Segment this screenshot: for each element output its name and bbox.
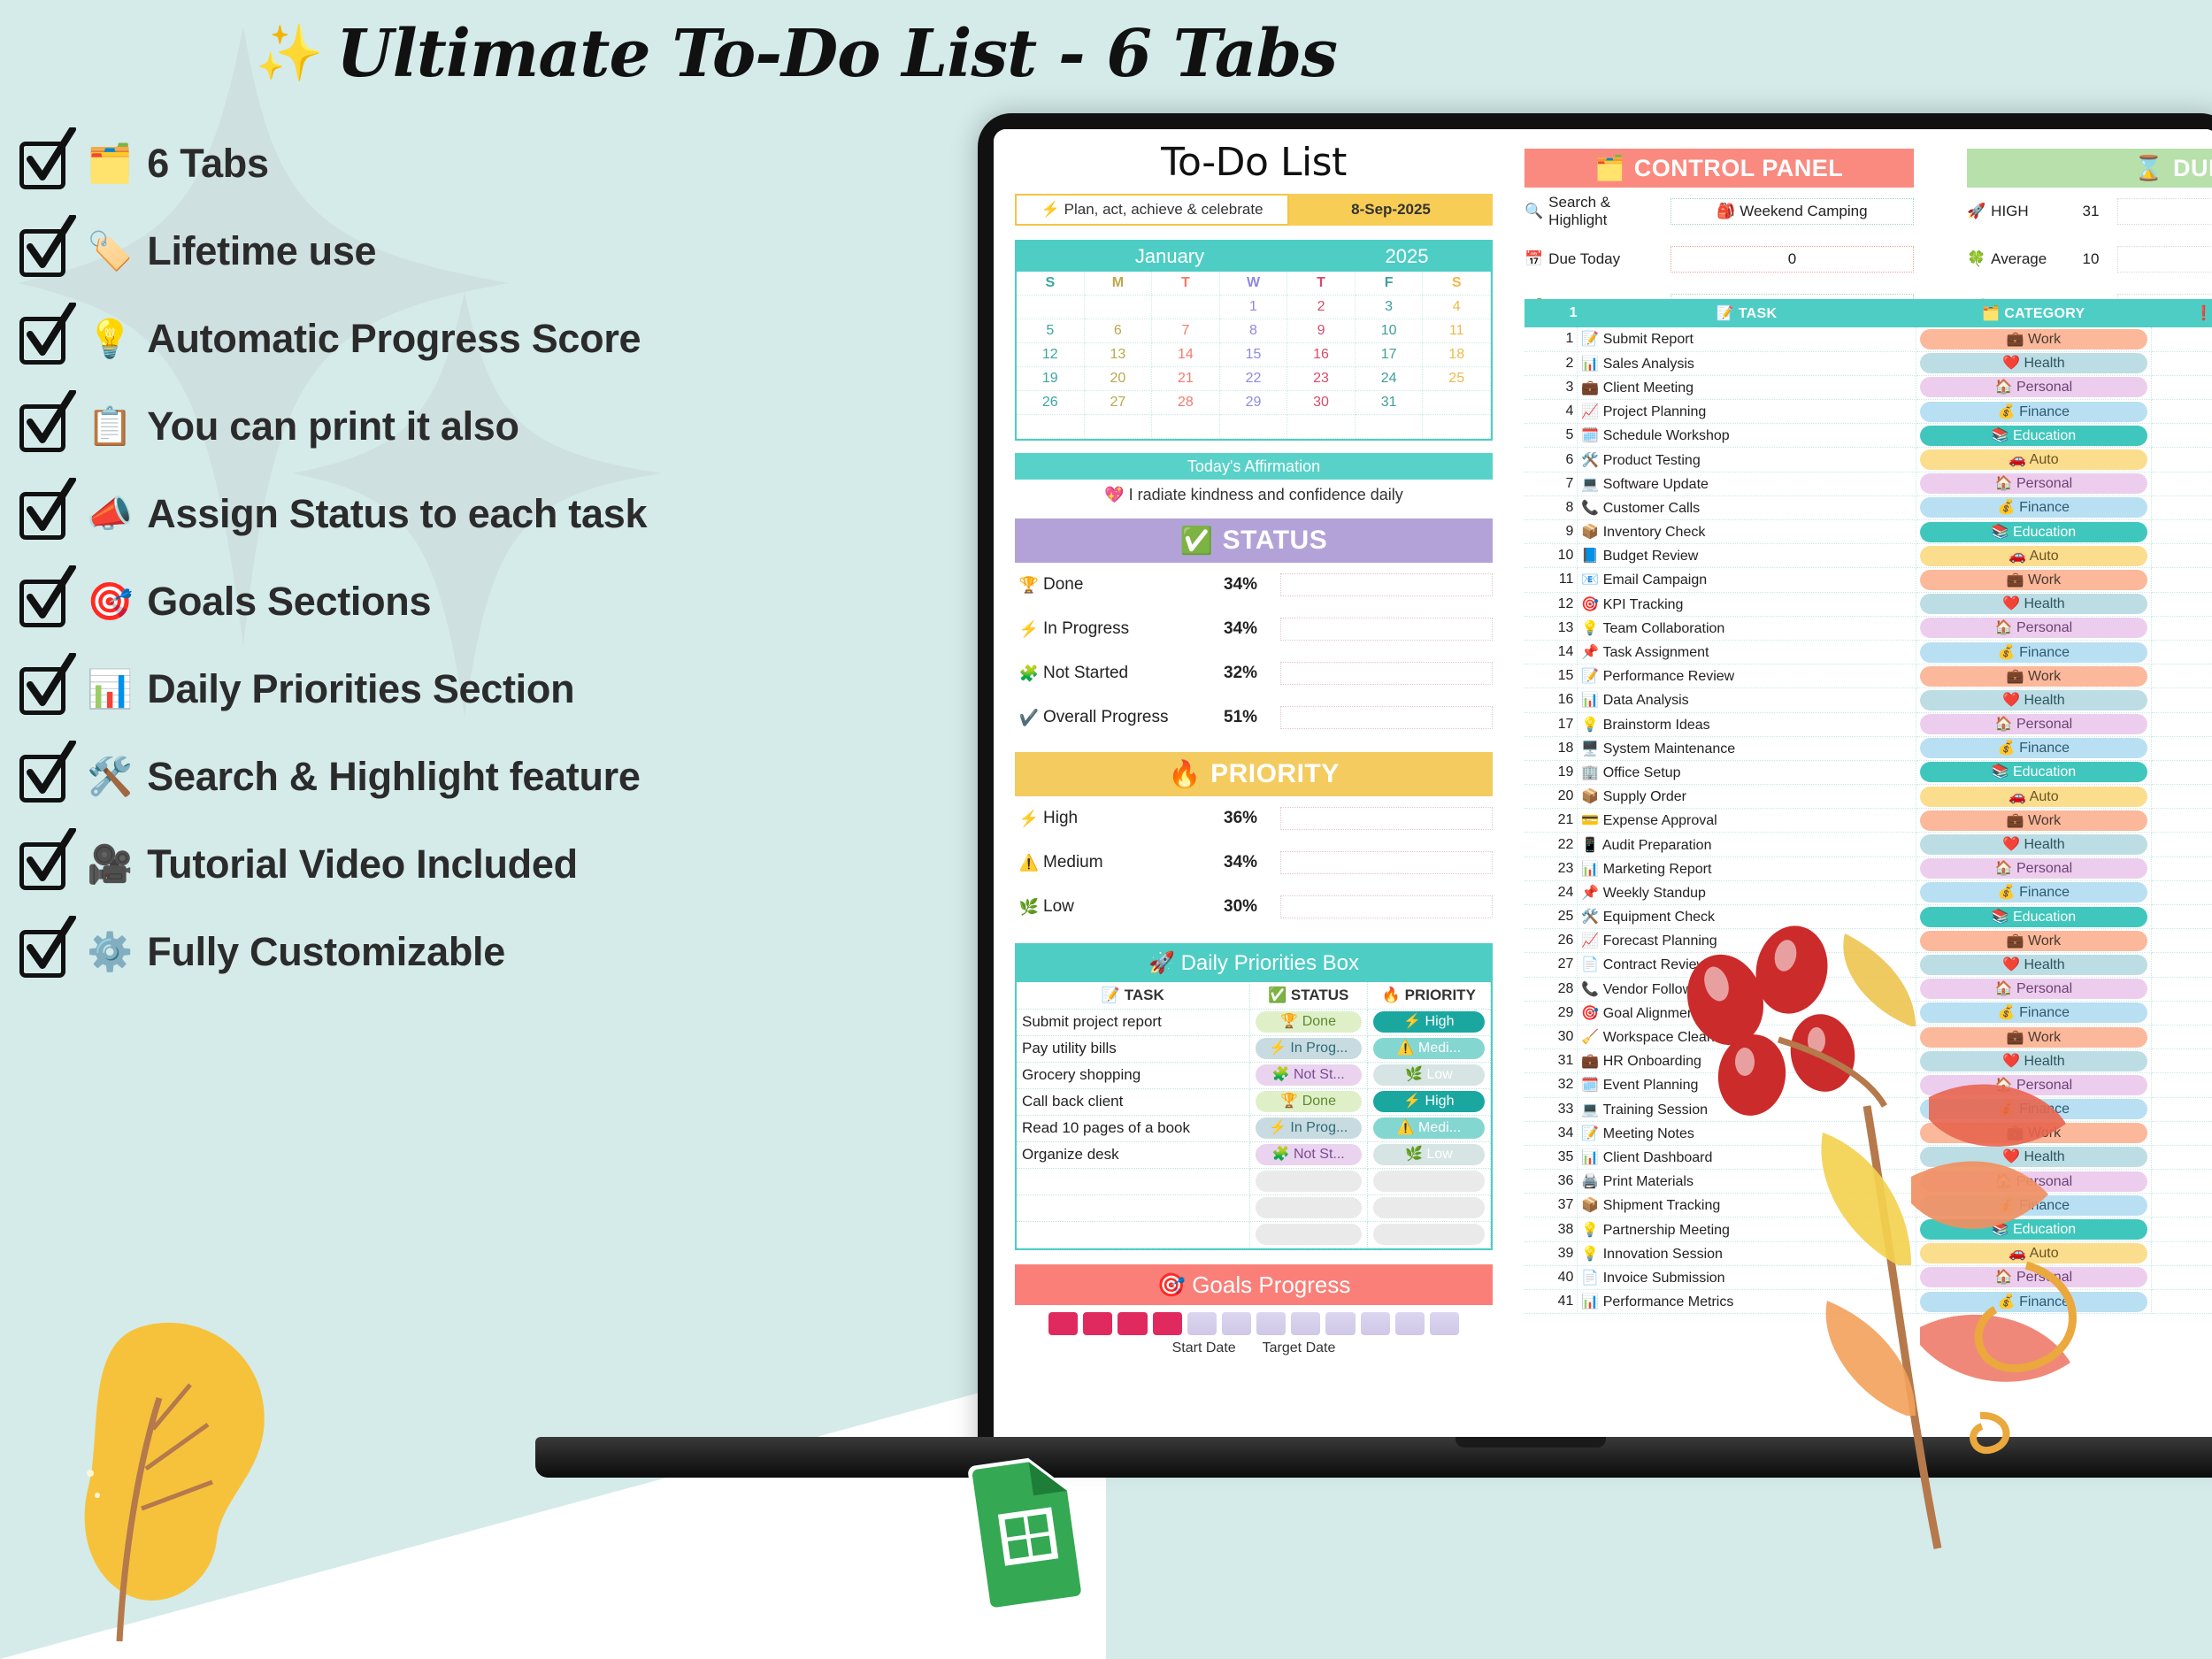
task-name-text: Brainstorm Ideas — [1603, 718, 1710, 733]
task-emoji-icon: 📦 — [1581, 789, 1599, 804]
status-row-label: Done — [1043, 575, 1224, 595]
important-cell: Yes — [2151, 616, 2212, 640]
category-badge: 🚗 Auto — [1920, 546, 2147, 566]
duration-label-text: Average — [1991, 250, 2047, 268]
task-name-cell: 🏢 Office Setup — [1578, 760, 1916, 784]
calendar-weekday: T — [1287, 272, 1356, 296]
task-name-text: Supply Order — [1603, 789, 1686, 804]
daily-status-cell: 🧩 Not St... — [1249, 1062, 1367, 1088]
status-row-bar-track — [1280, 706, 1493, 729]
task-emoji-icon: 🎯 — [1581, 597, 1599, 612]
task-name-cell: 🎯 KPI Tracking — [1578, 592, 1916, 616]
feature-item: 🏷️Lifetime use — [18, 207, 920, 295]
category-badge: 💰 Finance — [1920, 402, 2147, 422]
daily-priority-cell: ⚡ High — [1367, 1088, 1490, 1115]
important-cell: No — [2151, 640, 2212, 664]
calendar-day[interactable]: 28 — [1152, 391, 1220, 415]
table-row[interactable]: 22📱 Audit Preparation❤️ HealthYes22-Sep-… — [1525, 833, 2212, 856]
calendar-day[interactable] — [1220, 415, 1288, 439]
calendar-day[interactable]: 22 — [1220, 367, 1288, 391]
calendar-day[interactable] — [1085, 296, 1153, 319]
calendar-day[interactable]: 8 — [1220, 319, 1288, 343]
daily-status-cell: 🧩 Not St... — [1249, 1141, 1367, 1168]
table-row[interactable]: 11📧 Email Campaign💼 WorkNo11-Sep-2025Sep… — [1525, 568, 2212, 592]
category-cell: 💰 Finance — [1916, 640, 2151, 664]
sheet-title: To-Do List — [1015, 140, 1493, 185]
important-cell: No — [2151, 568, 2212, 592]
calendar-day[interactable]: 6 — [1085, 319, 1153, 343]
category-cell: ❤️ Health — [1916, 592, 2151, 616]
row-index: 38 — [1525, 1217, 1578, 1241]
important-cell: N/A — [2151, 664, 2212, 688]
daily-priorities-row[interactable]: Call back client🏆 Done⚡ High — [1017, 1088, 1491, 1115]
table-row[interactable]: 2📊 Sales Analysis❤️ HealthNo2-Sep-2025Se… — [1525, 351, 2212, 375]
calendar-day[interactable]: 9 — [1287, 319, 1356, 343]
control-panel-label-text: Search & Highlight — [1548, 194, 1671, 229]
row-index: 11 — [1525, 568, 1578, 592]
daily-task-cell: Pay utility bills — [1017, 1035, 1249, 1062]
category-cell: 🏠 Personal — [1916, 712, 2151, 736]
goal-progress-cell[interactable] — [1256, 1312, 1286, 1335]
calendar-weekday: F — [1356, 272, 1424, 296]
feature-item: 📣Assign Status to each task — [18, 470, 920, 557]
task-name-cell: 💡 Brainstorm Ideas — [1578, 712, 1916, 736]
row-index: 22 — [1525, 833, 1578, 856]
feature-label: 6 Tabs — [147, 141, 268, 187]
task-name-cell: 📧 Email Campaign — [1578, 568, 1916, 592]
daily-status-cell — [1249, 1194, 1367, 1221]
calendar-weekday: T — [1152, 272, 1220, 296]
calendar-weekday: M — [1085, 272, 1153, 296]
task-name-cell: 📞 Customer Calls — [1578, 495, 1916, 519]
tagline-cell: ⚡ Plan, act, achieve & celebrate — [1015, 194, 1289, 226]
daily-priorities-row[interactable]: Pay utility bills⚡ In Prog...⚠️ Medi... — [1017, 1035, 1491, 1062]
calendar-widget[interactable]: January 2025 SMTWTFS 1234567891011121314… — [1015, 240, 1493, 441]
row-index: 26 — [1525, 929, 1578, 953]
calendar-day[interactable]: 25 — [1423, 367, 1491, 391]
row-index: 21 — [1525, 809, 1578, 833]
status-row-icon: ⚡ — [1015, 620, 1043, 639]
table-row[interactable]: 23📊 Marketing Report🏠 PersonalNo23-Sep-2… — [1525, 856, 2212, 880]
calendar-day[interactable] — [1017, 296, 1085, 319]
calendar-weekday: S — [1423, 272, 1491, 296]
goal-progress-cell[interactable] — [1291, 1312, 1320, 1335]
label-tag-icon: 🏷️ — [87, 233, 133, 270]
control-panel-label: 🔍Search & Highlight — [1525, 194, 1671, 229]
priority-row-bar-track — [1280, 895, 1493, 918]
calendar-header: January 2025 — [1017, 242, 1491, 272]
goals-progress-cells[interactable] — [1015, 1305, 1493, 1335]
goal-progress-cell[interactable] — [1361, 1312, 1390, 1335]
task-emoji-icon: 📝 — [1581, 1126, 1599, 1141]
row-index: 37 — [1525, 1194, 1578, 1217]
calendar-day[interactable]: 18 — [1423, 343, 1491, 367]
status-row-icon: 🧩 — [1015, 664, 1043, 683]
important-cell: No — [2151, 351, 2212, 375]
task-emoji-icon: 📞 — [1581, 501, 1599, 516]
task-column-header[interactable]: ❗ Important — [2151, 299, 2212, 327]
checkbox-checked-icon — [18, 837, 73, 892]
row-index: 35 — [1525, 1145, 1578, 1169]
daily-status-cell: ⚡ In Prog... — [1249, 1115, 1367, 1141]
task-column-header[interactable]: 🗂️ CATEGORY — [1916, 299, 2151, 327]
calendar-week: 262728293031 — [1017, 391, 1491, 415]
megaphone-icon: 📣 — [87, 495, 133, 533]
control-panel-row-icon: 📅 — [1525, 250, 1543, 268]
calendar-day[interactable]: 16 — [1287, 343, 1356, 367]
affirmation-text: 💖 I radiate kindness and confidence dail… — [1015, 480, 1493, 506]
calendar-day[interactable] — [1017, 415, 1085, 439]
calendar-day[interactable]: 2 — [1287, 296, 1356, 319]
duration-label-text: HIGH — [1991, 203, 2029, 220]
calendar-day[interactable]: 11 — [1423, 319, 1491, 343]
table-row[interactable]: 4📈 Project Planning💰 FinanceYes4-Sep-202… — [1525, 400, 2212, 424]
calendar-day[interactable] — [1085, 415, 1153, 439]
daily-priorities-box: 🚀 Daily Priorities Box 📝 TASK✅ STATUS🔥 P… — [1015, 943, 1493, 1250]
table-row[interactable]: 16📊 Data Analysis❤️ HealthYes16-Sep-2025… — [1525, 688, 2212, 712]
important-cell: Yes — [2151, 400, 2212, 424]
calendar-day[interactable]: 24 — [1356, 367, 1424, 391]
category-cell: 🏠 Personal — [1916, 375, 2151, 399]
status-row: ✔️Overall Progress51% — [1015, 695, 1493, 740]
row-index: 30 — [1525, 1025, 1578, 1048]
feature-item: 🎯Goals Sections — [18, 557, 920, 645]
table-row[interactable]: 20📦 Supply Order🚗 AutoNo20-Sep-2025Sep 2… — [1525, 785, 2212, 809]
row-index: 27 — [1525, 953, 1578, 977]
row-index: 13 — [1525, 616, 1578, 640]
calendar-day[interactable]: 21 — [1152, 367, 1220, 391]
affirmation-header: Today's Affirmation — [1015, 453, 1493, 480]
task-name-text: Data Analysis — [1603, 693, 1689, 708]
category-cell: ❤️ Health — [1916, 351, 2151, 375]
task-name-text: Product Testing — [1603, 453, 1701, 468]
task-name-cell: 📊 Data Analysis — [1578, 688, 1916, 712]
daily-priorities-row[interactable] — [1017, 1194, 1491, 1221]
row-index: 20 — [1525, 785, 1578, 809]
task-name-text: Project Planning — [1603, 404, 1707, 419]
task-emoji-icon: 🛠️ — [1581, 453, 1599, 468]
table-row[interactable]: 18🖥️ System Maintenance💰 FinanceN/A18-Se… — [1525, 736, 2212, 760]
task-name-cell: 💳 Expense Approval — [1578, 809, 1916, 833]
goal-progress-cell[interactable] — [1048, 1312, 1078, 1335]
calendar-day[interactable]: 20 — [1085, 367, 1153, 391]
status-row: 🧩Not Started32% — [1015, 651, 1493, 695]
berry-branch-icon — [1646, 885, 2212, 1557]
status-panel-header: ✅ STATUS — [1015, 518, 1493, 563]
task-emoji-icon: 💻 — [1581, 1102, 1599, 1118]
calendar-day[interactable]: 19 — [1017, 367, 1085, 391]
table-row[interactable]: 12🎯 KPI Tracking❤️ HealthN/A12-Sep-2025S… — [1525, 592, 2212, 616]
category-badge: 🏠 Personal — [1920, 618, 2147, 638]
daily-task-cell: Organize desk — [1017, 1141, 1249, 1168]
calendar-day[interactable] — [1152, 415, 1220, 439]
daily-priorities-table: 📝 TASK✅ STATUS🔥 PRIORITY Submit project … — [1017, 982, 1491, 1248]
priority-badge: 🌿 Low — [1373, 1144, 1485, 1165]
category-cell: 🏠 Personal — [1916, 616, 2151, 640]
daily-task-cell — [1017, 1194, 1249, 1221]
important-cell: N/A — [2151, 520, 2212, 544]
category-cell: 💼 Work — [1916, 809, 2151, 833]
clipboard-icon: 📋 — [87, 408, 133, 445]
control-panel-row-icon: 🔍 — [1525, 203, 1543, 220]
row-index: 28 — [1525, 977, 1578, 1001]
task-emoji-icon: 🖥️ — [1581, 741, 1599, 757]
status-badge: 🏆 Done — [1256, 1011, 1362, 1033]
feature-item: 📋You can print it also — [18, 382, 920, 470]
status-row: ⚡In Progress34% — [1015, 607, 1493, 651]
checkbox-checked-icon — [18, 399, 73, 454]
daily-priorities-row[interactable]: Submit project report🏆 Done⚡ High — [1017, 1009, 1491, 1035]
task-name-text: Marketing Report — [1603, 862, 1712, 877]
category-cell: 💰 Finance — [1916, 400, 2151, 424]
status-row-label: Not Started — [1043, 664, 1224, 683]
task-name-cell: 📦 Inventory Check — [1578, 520, 1916, 544]
category-badge: 💼 Work — [1920, 570, 2147, 590]
daily-status-cell: 🏆 Done — [1249, 1088, 1367, 1115]
row-index: 7 — [1525, 472, 1578, 495]
task-emoji-icon: 📊 — [1581, 1294, 1599, 1310]
calendar-day[interactable]: 31 — [1356, 391, 1424, 415]
daily-task-cell: Grocery shopping — [1017, 1062, 1249, 1088]
control-panel-row: 🔍Search & Highlight🎒 Weekend Camping — [1525, 188, 1914, 235]
task-name-cell: 📌 Task Assignment — [1578, 640, 1916, 664]
calendar-day[interactable]: 7 — [1152, 319, 1220, 343]
table-row[interactable]: 1📝 Submit Report💼 WorkYes1-Sep-2025Sep 2… — [1525, 327, 2212, 351]
control-panel-label-text: Due Today — [1548, 250, 1620, 268]
important-cell: N/A — [2151, 592, 2212, 616]
row-index: 24 — [1525, 880, 1578, 904]
priority-badge: ⚡ High — [1373, 1011, 1485, 1033]
calendar-day[interactable]: 1 — [1220, 296, 1288, 319]
google-sheets-icon — [954, 1443, 1099, 1618]
task-name-text: Email Campaign — [1603, 572, 1707, 588]
calendar-day[interactable]: 12 — [1017, 343, 1085, 367]
task-name-text: Schedule Workshop — [1603, 428, 1730, 443]
table-row[interactable]: 10📘 Budget Review🚗 AutoYes10-Sep-2025Sep… — [1525, 544, 2212, 568]
daily-priorities-row[interactable]: Grocery shopping🧩 Not St...🌿 Low — [1017, 1062, 1491, 1088]
calendar-day[interactable]: 23 — [1287, 367, 1356, 391]
table-row[interactable]: 19🏢 Office Setup📚 EducationYes19-Sep-202… — [1525, 760, 2212, 784]
duration-row: 🍀Average10 — [1967, 235, 2212, 283]
priority-row-label: Medium — [1043, 853, 1224, 872]
checkbox-checked-icon — [18, 574, 73, 629]
status-panel-title: STATUS — [1223, 526, 1328, 556]
important-cell: Yes — [2151, 472, 2212, 495]
table-row[interactable]: 9📦 Inventory Check📚 EducationN/A9-Sep-20… — [1525, 520, 2212, 544]
lightbulb-icon: 💡 — [87, 320, 133, 357]
feature-item: 🗂️6 Tabs — [18, 119, 920, 207]
goal-progress-cell[interactable] — [1153, 1312, 1182, 1335]
task-name-text: Client Meeting — [1603, 380, 1694, 396]
task-name-cell: 🗓️ Schedule Workshop — [1578, 424, 1916, 448]
control-panel-row: 📅Due Today0 — [1525, 235, 1914, 283]
task-name-cell: 📊 Marketing Report — [1578, 856, 1916, 880]
calendar-week: 19202122232425 — [1017, 367, 1491, 391]
category-cell: 💼 Work — [1916, 327, 2151, 351]
table-row[interactable]: 15📝 Performance Review💼 WorkN/A15-Sep-20… — [1525, 664, 2212, 688]
table-row[interactable]: 3💼 Client Meeting🏠 PersonalN/A3-Sep-2025… — [1525, 375, 2212, 399]
priority-row: ⚠️Medium34% — [1015, 841, 1493, 885]
daily-priorities-row[interactable] — [1017, 1168, 1491, 1194]
duration-row: 🚀HIGH31 — [1967, 188, 2212, 235]
task-name-text: Task Assignment — [1602, 645, 1709, 660]
calendar-day[interactable]: 26 — [1017, 391, 1085, 415]
feature-label: Fully Customizable — [147, 929, 505, 975]
priority-row-icon: ⚠️ — [1015, 854, 1043, 872]
important-cell: Yes — [2151, 833, 2212, 856]
task-emoji-icon: 📧 — [1581, 572, 1599, 588]
category-badge: 🏠 Personal — [1920, 377, 2147, 397]
checkbox-checked-icon — [18, 487, 73, 541]
today-date-cell: 8-Sep-2025 — [1289, 194, 1493, 226]
row-index: 34 — [1525, 1121, 1578, 1145]
goals-subheader: Start Date — [1172, 1340, 1236, 1356]
duration-row-icon: 🚀 — [1967, 203, 1985, 220]
calendar-day[interactable]: 13 — [1085, 343, 1153, 367]
category-cell: 💼 Work — [1916, 664, 2151, 688]
task-emoji-icon: 💡 — [1581, 621, 1599, 636]
calendar-week: 1234 — [1017, 296, 1491, 319]
calendar-day[interactable]: 14 — [1152, 343, 1220, 367]
row-index: 19 — [1525, 760, 1578, 784]
goal-progress-cell[interactable] — [1430, 1312, 1459, 1335]
calendar-day[interactable]: 27 — [1085, 391, 1153, 415]
task-emoji-icon: 💻 — [1581, 477, 1599, 492]
important-cell: N/A — [2151, 736, 2212, 760]
duration-label: 🚀HIGH — [1967, 203, 2064, 220]
control-panel-value[interactable]: 0 — [1671, 246, 1914, 273]
tagline-row: ⚡ Plan, act, achieve & celebrate 8-Sep-2… — [1015, 194, 1493, 226]
calendar-day[interactable]: 30 — [1287, 391, 1356, 415]
daily-priorities-row[interactable]: Read 10 pages of a book⚡ In Prog...⚠️ Me… — [1017, 1115, 1491, 1141]
goal-progress-cell[interactable] — [1222, 1312, 1251, 1335]
table-row[interactable]: 6🛠️ Product Testing🚗 AutoN/A6-Sep-2025Se… — [1525, 448, 2212, 472]
status-badge: 🏆 Done — [1256, 1091, 1362, 1112]
task-name-cell: 📝 Submit Report — [1578, 327, 1916, 351]
calendar-day[interactable] — [1423, 391, 1491, 415]
checkbox-checked-icon — [18, 662, 73, 717]
category-badge: ❤️ Health — [1920, 834, 2147, 855]
task-name-cell: 📘 Budget Review — [1578, 544, 1916, 568]
category-badge: 💰 Finance — [1920, 642, 2147, 663]
fire-icon: 🔥 — [1168, 759, 1202, 790]
rocket-icon: 🚀 — [1148, 951, 1175, 975]
priority-row-percent: 34% — [1224, 853, 1280, 872]
calendar-week: 567891011 — [1017, 319, 1491, 343]
table-row[interactable]: 14📌 Task Assignment💰 FinanceNo14-Sep-202… — [1525, 640, 2212, 664]
category-badge: 📚 Education — [1920, 762, 2147, 782]
important-cell: Yes — [2151, 544, 2212, 568]
daily-task-cell: Read 10 pages of a book — [1017, 1115, 1249, 1141]
calendar-day[interactable] — [1356, 415, 1424, 439]
row-index: 29 — [1525, 1001, 1578, 1025]
calendar-day[interactable]: 29 — [1220, 391, 1288, 415]
daily-priorities-column-header: ✅ STATUS — [1249, 982, 1367, 1009]
daily-status-cell: 🏆 Done — [1249, 1009, 1367, 1035]
daily-status-cell — [1249, 1221, 1367, 1248]
daily-priorities-row[interactable] — [1017, 1221, 1491, 1248]
calendar-day[interactable]: 10 — [1356, 319, 1424, 343]
table-row[interactable]: 21💳 Expense Approval💼 WorkN/A21-Sep-2025… — [1525, 809, 2212, 833]
table-row[interactable]: 7💻 Software Update🏠 PersonalYes7-Sep-202… — [1525, 472, 2212, 495]
goal-progress-cell[interactable] — [1325, 1312, 1355, 1335]
important-cell: N/A — [2151, 809, 2212, 833]
status-badge — [1256, 1171, 1362, 1192]
row-index: 15 — [1525, 664, 1578, 688]
task-column-header[interactable]: 📝 TASK — [1578, 299, 1916, 327]
daily-task-cell — [1017, 1221, 1249, 1248]
calendar-day[interactable]: 17 — [1356, 343, 1424, 367]
feature-label: Lifetime use — [147, 228, 376, 274]
daily-status-cell: ⚡ In Prog... — [1249, 1035, 1367, 1062]
goal-progress-cell[interactable] — [1118, 1312, 1147, 1335]
feature-label: Search & Highlight feature — [147, 754, 640, 800]
calendar-day[interactable] — [1423, 415, 1491, 439]
task-emoji-icon: 📘 — [1581, 549, 1599, 564]
feature-item: 🎥Tutorial Video Included — [18, 820, 920, 908]
row-index: 16 — [1525, 688, 1578, 712]
control-panel-value[interactable]: 🎒 Weekend Camping — [1671, 198, 1914, 225]
category-badge: 💰 Finance — [1920, 738, 2147, 758]
goal-progress-cell[interactable] — [1187, 1312, 1217, 1335]
calendar-day[interactable]: 4 — [1423, 296, 1491, 319]
row-index: 33 — [1525, 1097, 1578, 1121]
daily-priority-cell: 🌿 Low — [1367, 1062, 1490, 1088]
table-row[interactable]: 8📞 Customer Calls💰 FinanceNo8-Sep-2025Se… — [1525, 495, 2212, 519]
table-row[interactable]: 5🗓️ Schedule Workshop📚 EducationNo5-Sep-… — [1525, 424, 2212, 448]
calendar-day[interactable]: 5 — [1017, 319, 1085, 343]
status-badge: ⚡ In Prog... — [1256, 1118, 1362, 1139]
daily-priority-cell — [1367, 1168, 1490, 1194]
task-name-text: Sales Analysis — [1603, 357, 1694, 372]
task-column-header[interactable]: 1 — [1525, 299, 1578, 327]
priority-badge: ⚠️ Medi... — [1373, 1038, 1485, 1059]
goal-progress-cell[interactable] — [1083, 1312, 1112, 1335]
goal-progress-cell[interactable] — [1395, 1312, 1425, 1335]
task-emoji-icon: 💼 — [1581, 1054, 1599, 1069]
priority-row-bar-track — [1280, 807, 1493, 830]
important-cell: No — [2151, 495, 2212, 519]
table-row[interactable]: 13💡 Team Collaboration🏠 PersonalYes13-Se… — [1525, 616, 2212, 640]
target-icon: 🎯 — [1157, 1271, 1186, 1298]
task-name-cell: 💻 Software Update — [1578, 472, 1916, 495]
daily-priorities-header-row: 📝 TASK✅ STATUS🔥 PRIORITY — [1017, 982, 1491, 1009]
daily-priorities-row[interactable]: Organize desk🧩 Not St...🌿 Low — [1017, 1141, 1491, 1168]
task-name-text: Audit Preparation — [1602, 838, 1712, 853]
table-row[interactable]: 17💡 Brainstorm Ideas🏠 PersonalNo17-Sep-2… — [1525, 712, 2212, 736]
task-emoji-icon: 🖨️ — [1581, 1174, 1599, 1189]
category-cell: 📚 Education — [1916, 424, 2151, 448]
laptop-base-notch — [1455, 1437, 1606, 1448]
status-rows: 🏆Done34%⚡In Progress34%🧩Not Started32%✔️… — [1015, 563, 1493, 740]
important-cell: N/A — [2151, 375, 2212, 399]
daily-status-cell — [1249, 1168, 1367, 1194]
calendar-day[interactable]: 3 — [1356, 296, 1424, 319]
duration-value: 31 — [2064, 203, 2117, 220]
calendar-week: 12131415161718 — [1017, 343, 1491, 367]
task-name-cell: 📦 Supply Order — [1578, 785, 1916, 809]
calendar-weekday-row: SMTWTFS — [1017, 272, 1491, 296]
goals-progress-title: Goals Progress — [1192, 1271, 1350, 1298]
calendar-day[interactable]: 15 — [1220, 343, 1288, 367]
calendar-day[interactable] — [1152, 296, 1220, 319]
card-index-dividers-icon: 🗂️ — [1595, 154, 1625, 182]
category-cell: 🚗 Auto — [1916, 544, 2151, 568]
status-row-percent: 51% — [1224, 708, 1280, 727]
category-cell: ❤️ Health — [1916, 688, 2151, 712]
calendar-day[interactable] — [1287, 415, 1356, 439]
priority-badge: ⚠️ Medi... — [1373, 1118, 1485, 1139]
